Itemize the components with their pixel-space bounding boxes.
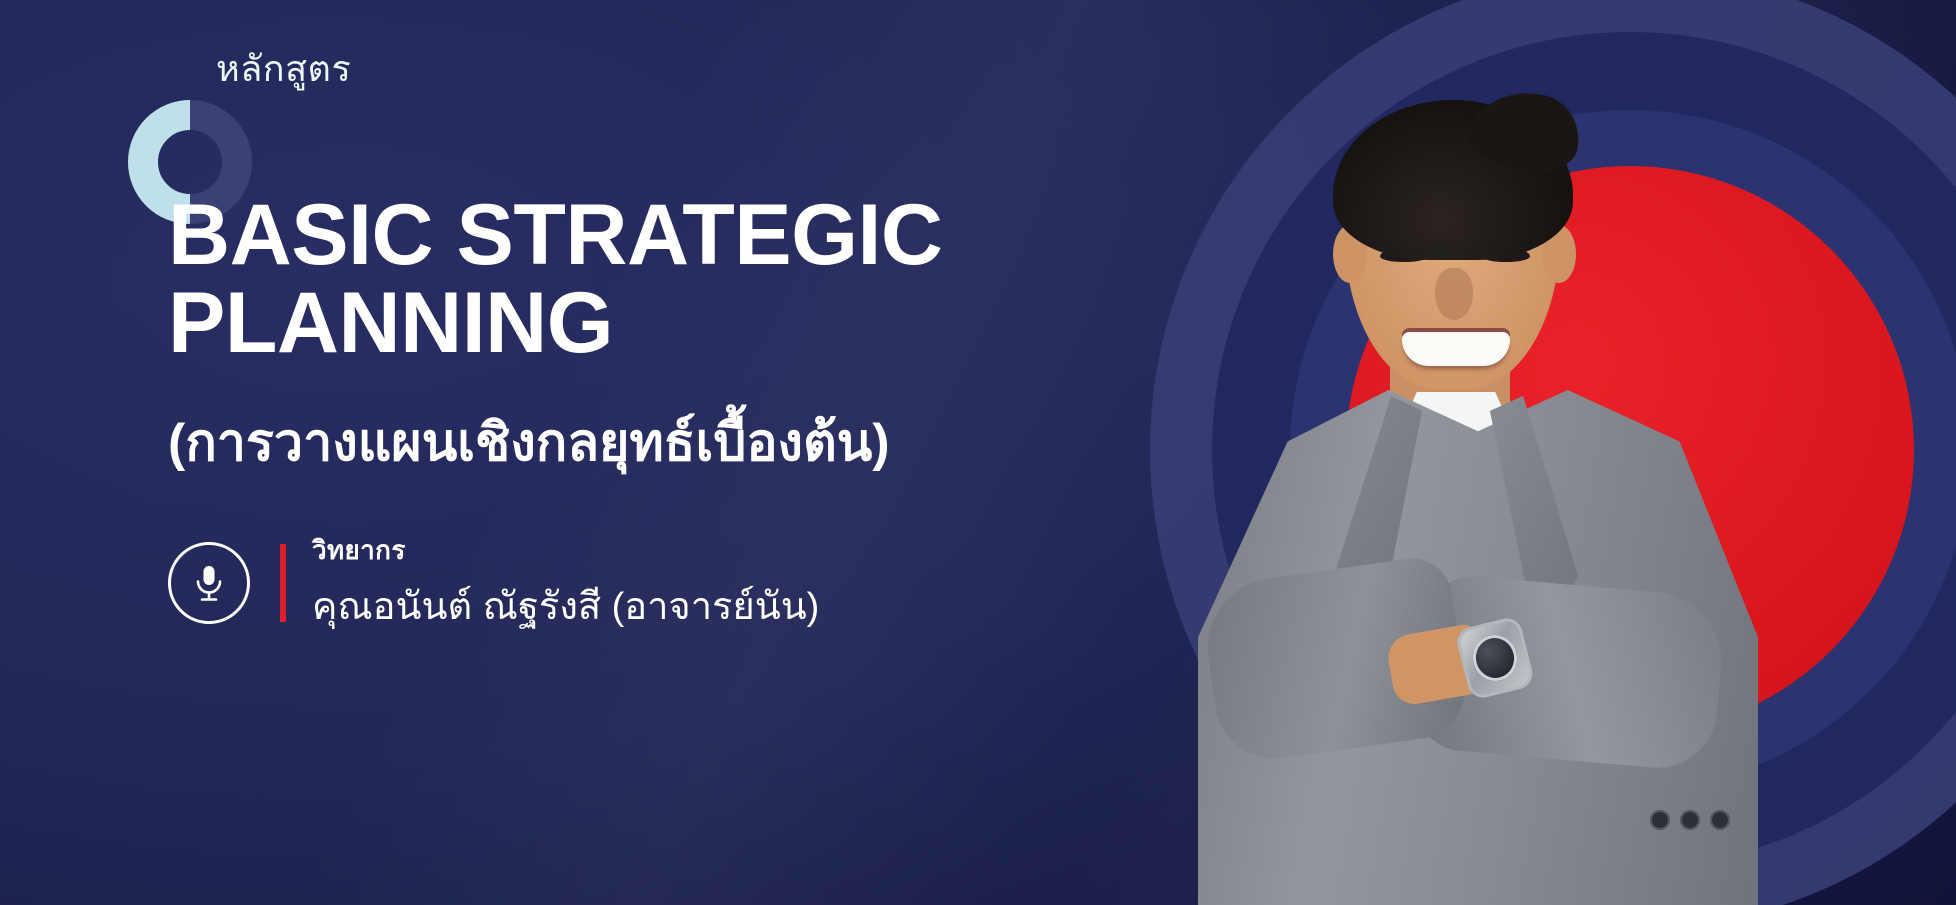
- presenter-smile: [1402, 332, 1510, 366]
- donut-arc-logo-icon: [128, 100, 252, 200]
- page-subtitle: (การวางแผนเชิงกลยุทธ์เบื้องต้น): [168, 400, 890, 483]
- speaker-block: วิทยากร คุณอนันต์ ณัฐรังสี (อาจารย์นัน): [168, 530, 819, 636]
- presenter-photo: [1090, 40, 1790, 905]
- banner-content: หลักสูตร BASIC STRATEGIC PLANNING (การวา…: [168, 0, 1068, 905]
- microphone-icon: [168, 542, 250, 624]
- speaker-text: วิทยากร คุณอนันต์ ณัฐรังสี (อาจารย์นัน): [312, 530, 819, 636]
- course-promo-banner: หลักสูตร BASIC STRATEGIC PLANNING (การวา…: [0, 0, 1956, 905]
- page-title-line-1: BASIC STRATEGIC: [168, 187, 942, 283]
- presenter-sleeve-buttons: [1650, 810, 1746, 836]
- speaker-role-label: วิทยากร: [312, 530, 819, 571]
- speaker-name: คุณอนันต์ ณัฐรังสี (อาจารย์นัน): [312, 575, 819, 636]
- page-title-line-2: PLANNING: [168, 280, 1028, 368]
- presenter-nose: [1435, 268, 1473, 320]
- page-title: BASIC STRATEGIC PLANNING: [168, 192, 1028, 367]
- speaker-divider-bar: [280, 544, 286, 622]
- course-kicker-label: หลักสูตร: [216, 40, 351, 97]
